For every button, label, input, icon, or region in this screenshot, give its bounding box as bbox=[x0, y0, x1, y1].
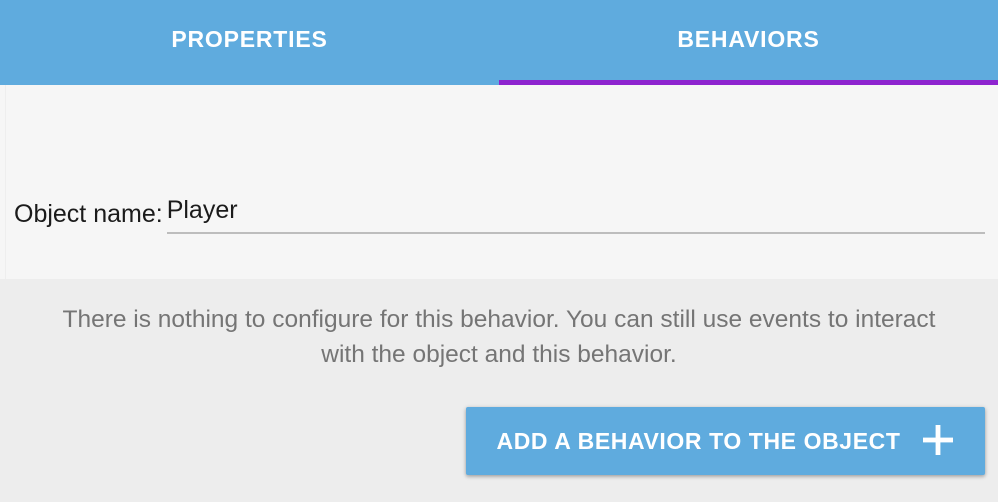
add-behavior-button[interactable]: ADD A BEHAVIOR TO THE OBJECT bbox=[466, 407, 985, 475]
empty-state-message: There is nothing to configure for this b… bbox=[40, 303, 958, 373]
tab-properties-label: PROPERTIES bbox=[171, 28, 327, 57]
behavior-configuration-section: There is nothing to configure for this b… bbox=[0, 279, 998, 502]
plus-icon bbox=[921, 423, 955, 460]
object-form-section: Object name: Behavior bbox=[0, 85, 998, 279]
add-behavior-label: ADD A BEHAVIOR TO THE OBJECT bbox=[497, 430, 901, 453]
object-name-row: Object name: bbox=[14, 197, 985, 234]
left-divider bbox=[5, 85, 6, 279]
object-name-input[interactable] bbox=[167, 197, 985, 234]
behaviors-panel: PROPERTIES BEHAVIORS Object name: Behavi… bbox=[0, 0, 998, 502]
tab-behaviors[interactable]: BEHAVIORS bbox=[499, 0, 998, 85]
object-name-field-wrap bbox=[167, 197, 985, 234]
object-name-label: Object name: bbox=[14, 202, 163, 234]
tab-bar: PROPERTIES BEHAVIORS bbox=[0, 0, 998, 85]
tab-behaviors-label: BEHAVIORS bbox=[677, 28, 819, 57]
tab-properties[interactable]: PROPERTIES bbox=[0, 0, 499, 85]
